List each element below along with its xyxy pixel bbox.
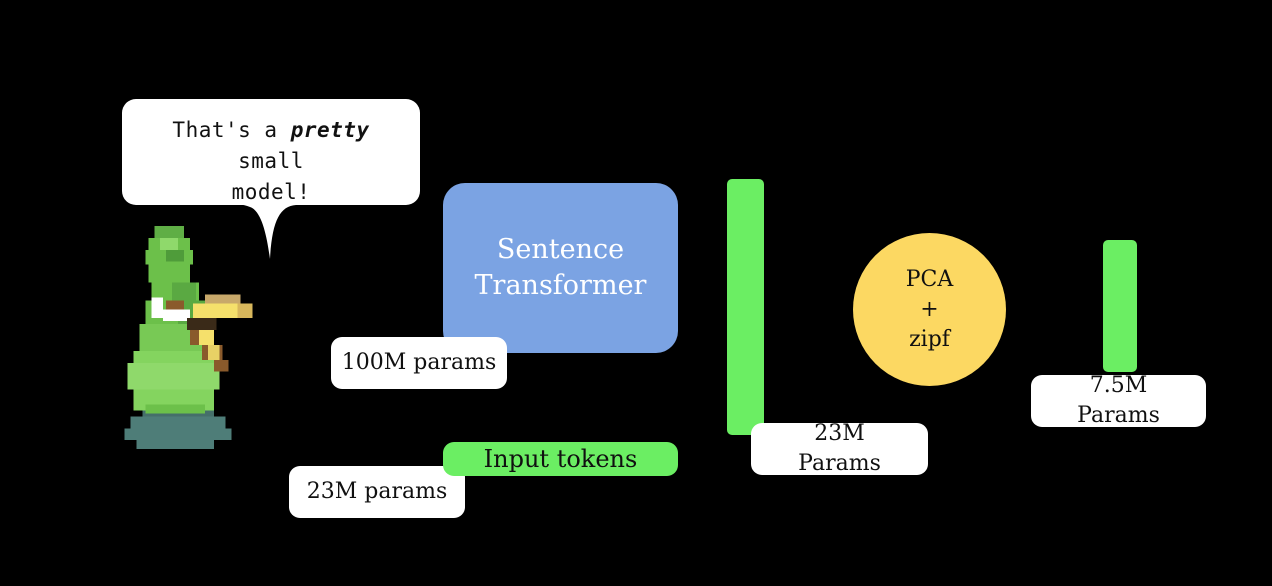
label-23m-params-model: 23M params [289, 466, 465, 518]
label-23m-params-embedding: 23M Params [751, 423, 928, 475]
bar-embedding-tall [727, 179, 764, 435]
speech-bubble-line1-post: small [238, 149, 304, 173]
label-75m-params-line1: 7.5M [1077, 371, 1160, 401]
label-75m-params-line2: Params [1077, 401, 1160, 431]
bar-embedding-short [1103, 240, 1137, 372]
label-23m-params-line1: 23M [798, 419, 881, 449]
speech-bubble: That's a pretty small model! [122, 99, 420, 205]
node-sentence-transformer-line1: Sentence [475, 232, 647, 268]
pixel-creature-sprite [100, 220, 268, 458]
node-sentence-transformer: Sentence Transformer [443, 183, 678, 353]
node-sentence-transformer-line2: Transformer [475, 268, 647, 304]
label-75m-params: 7.5M Params [1031, 375, 1206, 427]
node-pca-zipf: PCA + zipf [853, 233, 1006, 386]
speech-bubble-line1-pre: That's a [172, 118, 290, 142]
label-100m-params: 100M params [331, 337, 507, 389]
label-input-tokens: Input tokens [443, 442, 678, 476]
node-pca-line3: zipf [909, 325, 950, 355]
label-23m-params-line2: Params [798, 449, 881, 479]
node-pca-line1: PCA [906, 265, 954, 295]
diagram-canvas: That's a pretty small model! [0, 0, 1272, 586]
speech-bubble-emphasis: pretty [291, 118, 370, 142]
node-pca-line2: + [920, 295, 938, 325]
